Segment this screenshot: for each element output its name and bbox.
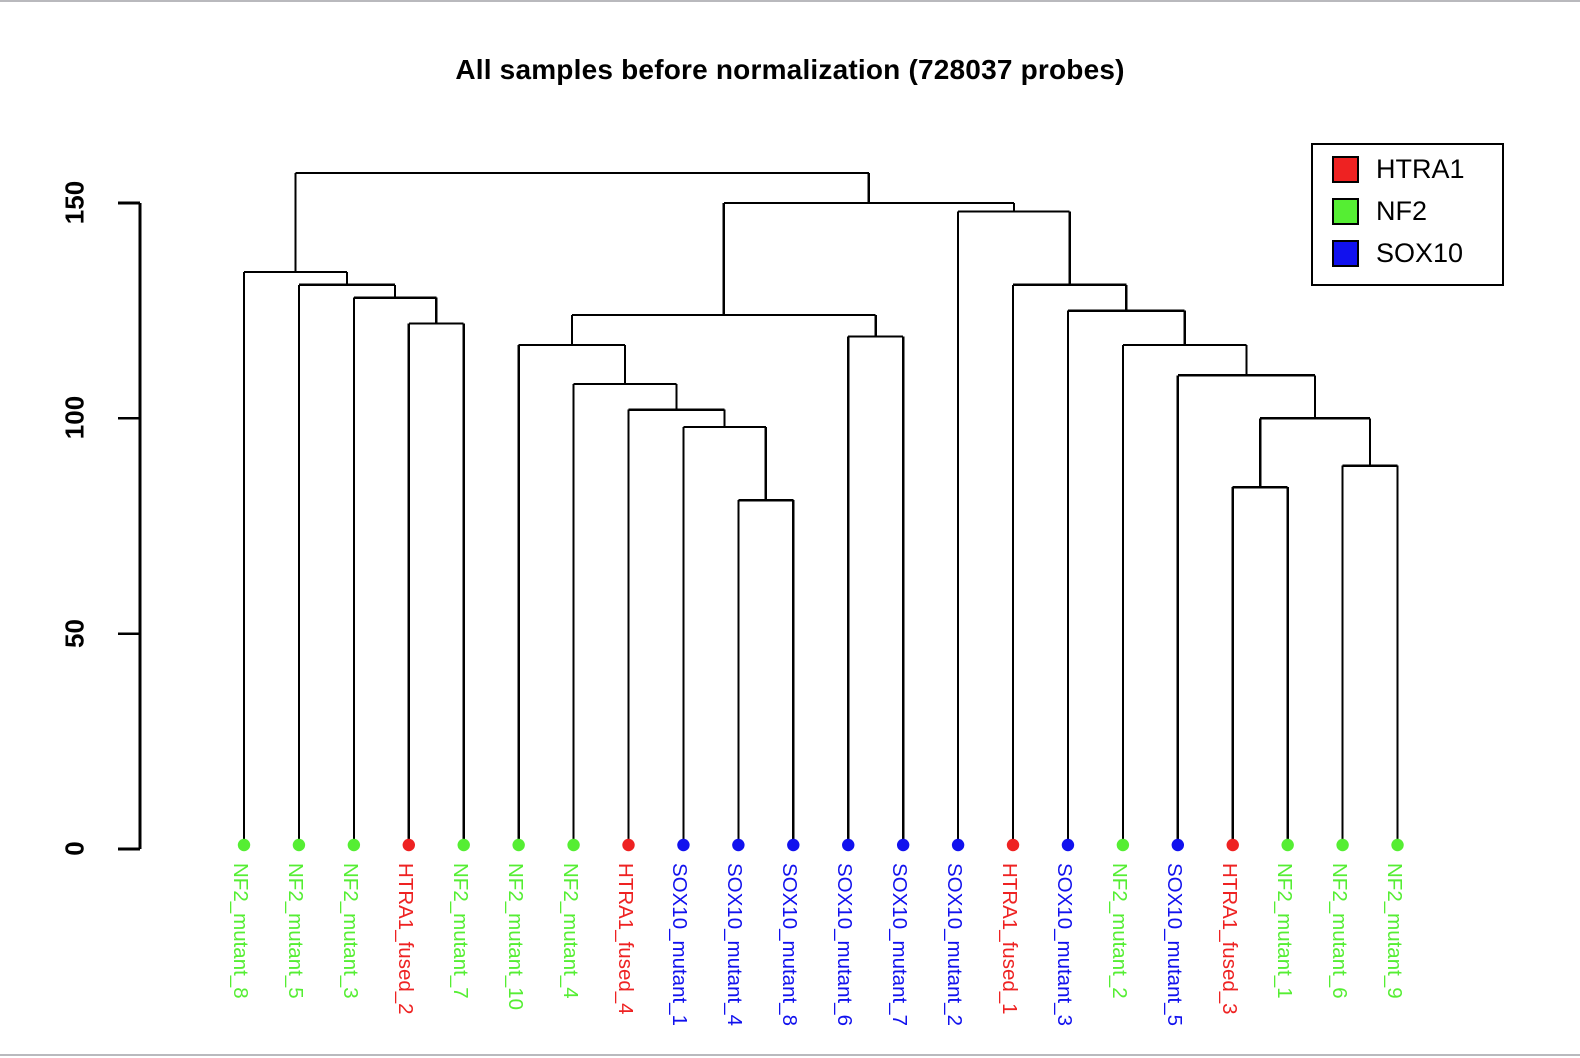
- leaf-dots: [238, 839, 1404, 851]
- leaf-label: SOX10_mutant_2: [942, 863, 966, 1026]
- leaf-dot: [1281, 839, 1293, 851]
- legend-label-sox10: SOX10: [1376, 240, 1463, 267]
- leaf-dot: [842, 839, 854, 851]
- leaf-label: SOX10_mutant_1: [667, 863, 691, 1026]
- leaf-label: SOX10_mutant_4: [722, 863, 746, 1026]
- leaf-label: NF2_mutant_9: [1382, 863, 1406, 999]
- leaf-dot: [1227, 839, 1239, 851]
- y-axis-tick-label: 150: [60, 168, 91, 238]
- leaf-dot: [458, 839, 470, 851]
- legend-swatch-htra1: [1332, 156, 1359, 183]
- y-axis-tick-label: 100: [60, 383, 91, 453]
- leaf-label: HTRA1_fused_3: [1217, 863, 1241, 1015]
- leaf-dot: [512, 839, 524, 851]
- leaf-dot: [1117, 839, 1129, 851]
- legend-swatch-sox10: [1332, 240, 1359, 267]
- leaf-dot: [1391, 839, 1403, 851]
- leaf-dot: [567, 839, 579, 851]
- plot-frame: All samples before normalization (728037…: [0, 0, 1580, 1056]
- legend-item: NF2: [1332, 193, 1502, 229]
- leaf-label: NF2_mutant_3: [338, 863, 362, 999]
- leaf-dot: [622, 839, 634, 851]
- leaf-label: SOX10_mutant_3: [1052, 863, 1076, 1026]
- leaf-label: NF2_mutant_6: [1327, 863, 1351, 999]
- leaf-dot: [293, 839, 305, 851]
- leaf-dot: [732, 839, 744, 851]
- leaf-dot: [1172, 839, 1184, 851]
- leaf-label: SOX10_mutant_5: [1162, 863, 1186, 1026]
- leaf-label: NF2_mutant_1: [1272, 863, 1296, 999]
- leaf-dot: [952, 839, 964, 851]
- leaf-label: SOX10_mutant_6: [832, 863, 856, 1026]
- leaf-dot: [897, 839, 909, 851]
- legend-label-nf2: NF2: [1376, 198, 1427, 225]
- leaf-label: NF2_mutant_10: [503, 863, 527, 1010]
- leaf-dot: [403, 839, 415, 851]
- dendrogram-tree: [244, 173, 1398, 849]
- legend-label-htra1: HTRA1: [1376, 156, 1465, 183]
- leaf-label: HTRA1_fused_4: [613, 863, 637, 1015]
- leaf-dot: [238, 839, 250, 851]
- leaf-dot: [348, 839, 360, 851]
- leaf-label: NF2_mutant_4: [558, 863, 582, 999]
- leaf-label: NF2_mutant_2: [1107, 863, 1131, 999]
- leaf-label: NF2_mutant_7: [448, 863, 472, 999]
- leaf-label: HTRA1_fused_1: [997, 863, 1021, 1015]
- leaf-label: NF2_mutant_5: [283, 863, 307, 999]
- y-axis-tick-label: 0: [60, 814, 91, 884]
- legend-item: SOX10: [1332, 235, 1502, 271]
- leaf-label: NF2_mutant_8: [228, 863, 252, 999]
- leaf-label: HTRA1_fused_2: [393, 863, 417, 1015]
- legend-swatch-nf2: [1332, 198, 1359, 225]
- y-axis-tick-label: 50: [60, 598, 91, 668]
- legend-item: HTRA1: [1332, 151, 1502, 187]
- leaf-dot: [787, 839, 799, 851]
- y-axis: [118, 203, 140, 849]
- legend: HTRA1 NF2 SOX10: [1311, 143, 1504, 286]
- leaf-label: SOX10_mutant_8: [777, 863, 801, 1026]
- leaf-dot: [677, 839, 689, 851]
- leaf-dot: [1007, 839, 1019, 851]
- leaf-dot: [1336, 839, 1348, 851]
- leaf-dot: [1062, 839, 1074, 851]
- leaf-label: SOX10_mutant_7: [887, 863, 911, 1026]
